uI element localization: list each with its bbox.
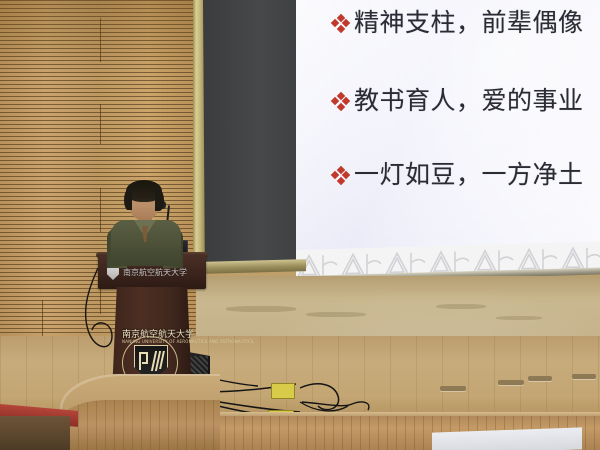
- slide-bullet-1-text: 精神支柱，前辈偶像: [354, 8, 584, 38]
- connector-box-1: [271, 383, 295, 399]
- crest-subtitle-text: NANJING UNIVERSITY OF AERONAUTICS AND AS…: [122, 339, 178, 344]
- screen-surround: [203, 0, 298, 270]
- lecture-hall-photo: 精神支柱，前辈偶像 教书育人，爱的事业 一灯如豆，一方净土: [0, 0, 600, 450]
- projection-slide: 精神支柱，前辈偶像 教书育人，爱的事业 一灯如豆，一方净土: [296, 0, 600, 262]
- slide-bullet-2: 教书育人，爱的事业: [296, 86, 600, 116]
- slide-bullet-3-text: 一灯如豆，一方净土: [354, 160, 584, 190]
- screen-bottom-frame: [196, 259, 306, 274]
- diamond-cluster-bullet-icon: [332, 93, 349, 110]
- diamond-cluster-bullet-icon: [332, 15, 349, 32]
- slide-bullet-1: 精神支柱，前辈偶像: [296, 8, 600, 38]
- slide-bullet-list: 精神支柱，前辈偶像 教书育人，爱的事业 一灯如豆，一方净土: [296, 0, 600, 262]
- podium-nameplate-text: 南京航空航天大学: [123, 267, 187, 278]
- presenter: [105, 178, 189, 260]
- slide-bullet-3: 一灯如豆，一方净土: [296, 160, 600, 190]
- slide-bullet-2-text: 教书育人，爱的事业: [354, 86, 584, 116]
- lower-floor-shadow: [0, 416, 70, 450]
- diamond-cluster-bullet-icon: [332, 167, 349, 184]
- glasses-icon: [130, 197, 158, 205]
- stage-corner-side: [60, 400, 220, 450]
